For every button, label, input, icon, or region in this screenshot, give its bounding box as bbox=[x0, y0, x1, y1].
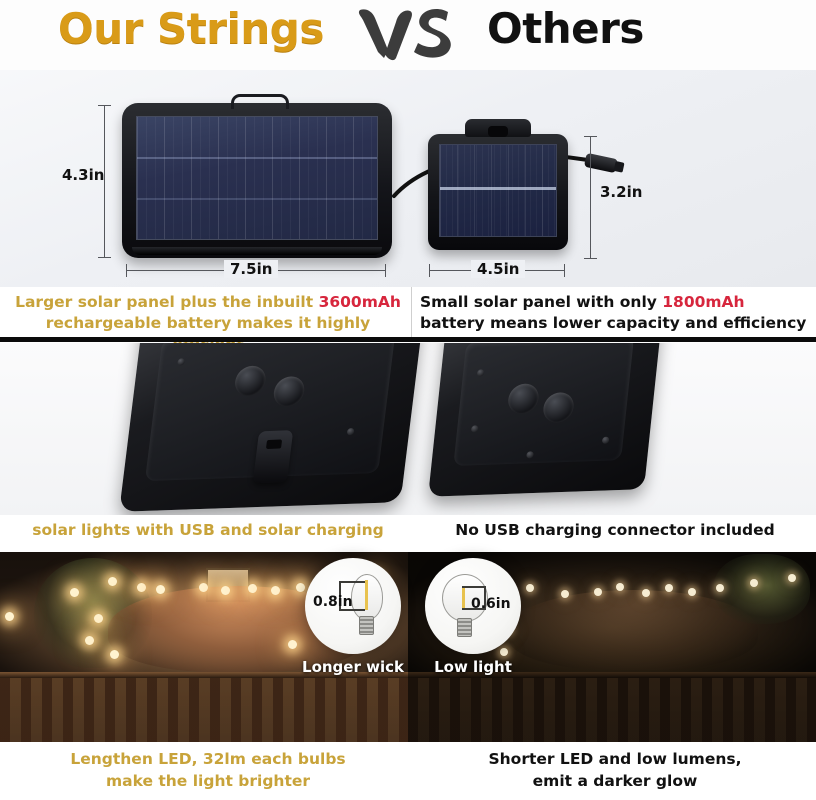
string-bulb-dim bbox=[500, 648, 508, 656]
photovoltaic-cells-small bbox=[439, 144, 557, 237]
housing-screw-3 bbox=[477, 369, 485, 376]
caption-band-brightness: Lengthen LED, 32lm each bulbs make the l… bbox=[0, 742, 816, 800]
housing-screw-5 bbox=[602, 437, 610, 444]
string-bulb-dim bbox=[526, 584, 534, 592]
small-solar-panel-image bbox=[428, 134, 568, 250]
small-panel-width-tick-left bbox=[429, 264, 430, 277]
usb-charging-port bbox=[253, 430, 294, 483]
our-light-housing-image bbox=[119, 343, 425, 512]
housing-stake bbox=[632, 343, 730, 345]
housing-comparison-photo bbox=[0, 343, 816, 515]
section-divider-top bbox=[0, 337, 816, 342]
housing-recess bbox=[145, 343, 396, 481]
small-panel-height-tick-top bbox=[584, 136, 597, 137]
string-bulb-dim bbox=[642, 589, 650, 597]
bulb-callout-ours: 0.8in bbox=[305, 558, 401, 654]
string-bulb bbox=[288, 640, 297, 649]
battery-capacity-ours: 3600mAh bbox=[319, 293, 401, 311]
big-panel-width-tick-left bbox=[126, 264, 127, 277]
panel-handle bbox=[231, 94, 289, 109]
photovoltaic-cells bbox=[136, 116, 378, 240]
housing-knob-3 bbox=[507, 383, 540, 414]
caption-usb-ours: solar lights with USB and solar charging bbox=[10, 521, 406, 539]
housing-knob-4 bbox=[542, 392, 575, 423]
small-panel-height-label: 3.2in bbox=[600, 183, 642, 201]
string-bulb bbox=[296, 583, 305, 592]
header-banner: Our Strings Others bbox=[0, 0, 816, 70]
bulb-dimension-ours: 0.8in bbox=[313, 594, 353, 610]
large-solar-panel-image bbox=[122, 103, 392, 258]
housing-knob-2 bbox=[272, 376, 306, 407]
string-bulb-dim bbox=[688, 588, 696, 596]
deck-railing-bright bbox=[0, 672, 408, 742]
panel-mount-bracket bbox=[465, 119, 531, 137]
comparison-infographic: Our Strings Others bbox=[0, 0, 816, 800]
deck-railing-dark bbox=[408, 672, 816, 742]
bulb-dimension-others: 0.6in bbox=[471, 596, 511, 612]
string-bulb bbox=[156, 585, 165, 594]
big-panel-width-label: 7.5in bbox=[224, 260, 278, 278]
housing-recess-small bbox=[453, 343, 634, 466]
string-bulb bbox=[110, 650, 119, 659]
small-panel-height-tick-bottom bbox=[584, 258, 597, 259]
string-bulb bbox=[137, 583, 146, 592]
night-scene-comparison-photo bbox=[0, 552, 816, 742]
caption-divider bbox=[411, 287, 412, 338]
string-bulb bbox=[108, 577, 117, 586]
heading-others: Others bbox=[487, 4, 644, 53]
caption-solar-ours-part1: Larger solar panel plus the inbuilt bbox=[15, 293, 318, 311]
string-bulb bbox=[248, 584, 257, 593]
string-bulb bbox=[199, 583, 208, 592]
caption-brightness-others: Shorter LED and low lumens, emit a darke… bbox=[420, 748, 810, 792]
caption-brightness-ours: Lengthen LED, 32lm each bulbs make the l… bbox=[10, 748, 406, 792]
housing-screw-2 bbox=[347, 428, 355, 435]
string-bulb-dim bbox=[750, 579, 758, 587]
string-bulb bbox=[221, 586, 230, 595]
string-bulb-dim bbox=[616, 583, 624, 591]
caption-solar-others-part1: Small solar panel with only bbox=[420, 293, 662, 311]
panel-base-lip bbox=[132, 247, 382, 255]
string-bulb bbox=[271, 586, 280, 595]
housing-screw-6 bbox=[526, 451, 534, 458]
vs-icon bbox=[352, 2, 462, 64]
bulb-callout-others: 0.6in bbox=[425, 558, 521, 654]
caption-solar-others: Small solar panel with only 1800mAh batt… bbox=[420, 292, 810, 334]
housing-screw-4 bbox=[471, 425, 479, 432]
big-panel-height-label: 4.3in bbox=[62, 166, 104, 184]
big-panel-height-tick-top bbox=[98, 105, 111, 106]
big-panel-width-tick-right bbox=[385, 264, 386, 277]
caption-usb-others: No USB charging connector included bbox=[420, 521, 810, 539]
heading-our-strings: Our Strings bbox=[58, 4, 324, 53]
caption-band-usb: solar lights with USB and solar charging… bbox=[0, 515, 816, 552]
big-panel-height-tick-bottom bbox=[98, 257, 111, 258]
small-panel-width-tick-right bbox=[564, 264, 565, 277]
string-bulb-dim bbox=[561, 590, 569, 598]
shrub-foliage bbox=[714, 554, 810, 624]
other-light-housing-image bbox=[428, 343, 663, 497]
string-bulb-dim bbox=[594, 588, 602, 596]
housing-knob-1 bbox=[233, 365, 267, 396]
string-bulb bbox=[94, 614, 103, 623]
housing-screw-1 bbox=[177, 358, 185, 365]
bulb-callout-label-others: Low light bbox=[408, 658, 538, 676]
string-bulb-dim bbox=[788, 574, 796, 582]
string-bulb-dim bbox=[716, 584, 724, 592]
caption-solar-others-part2: battery means lower capacity and efficie… bbox=[420, 314, 806, 332]
small-panel-height-line bbox=[590, 136, 591, 258]
caption-band-solar: Larger solar panel plus the inbuilt 3600… bbox=[0, 287, 816, 338]
small-panel-width-label: 4.5in bbox=[471, 260, 525, 278]
bulb-callout-label-ours: Longer wick bbox=[288, 658, 418, 676]
string-bulb bbox=[85, 636, 94, 645]
solar-panel-comparison-photo: 4.3in 7.5in 3.2in 4.5in bbox=[0, 70, 816, 287]
battery-capacity-others: 1800mAh bbox=[662, 293, 744, 311]
string-bulb-dim bbox=[665, 584, 673, 592]
string-bulb bbox=[5, 612, 14, 621]
string-bulb bbox=[70, 588, 79, 597]
